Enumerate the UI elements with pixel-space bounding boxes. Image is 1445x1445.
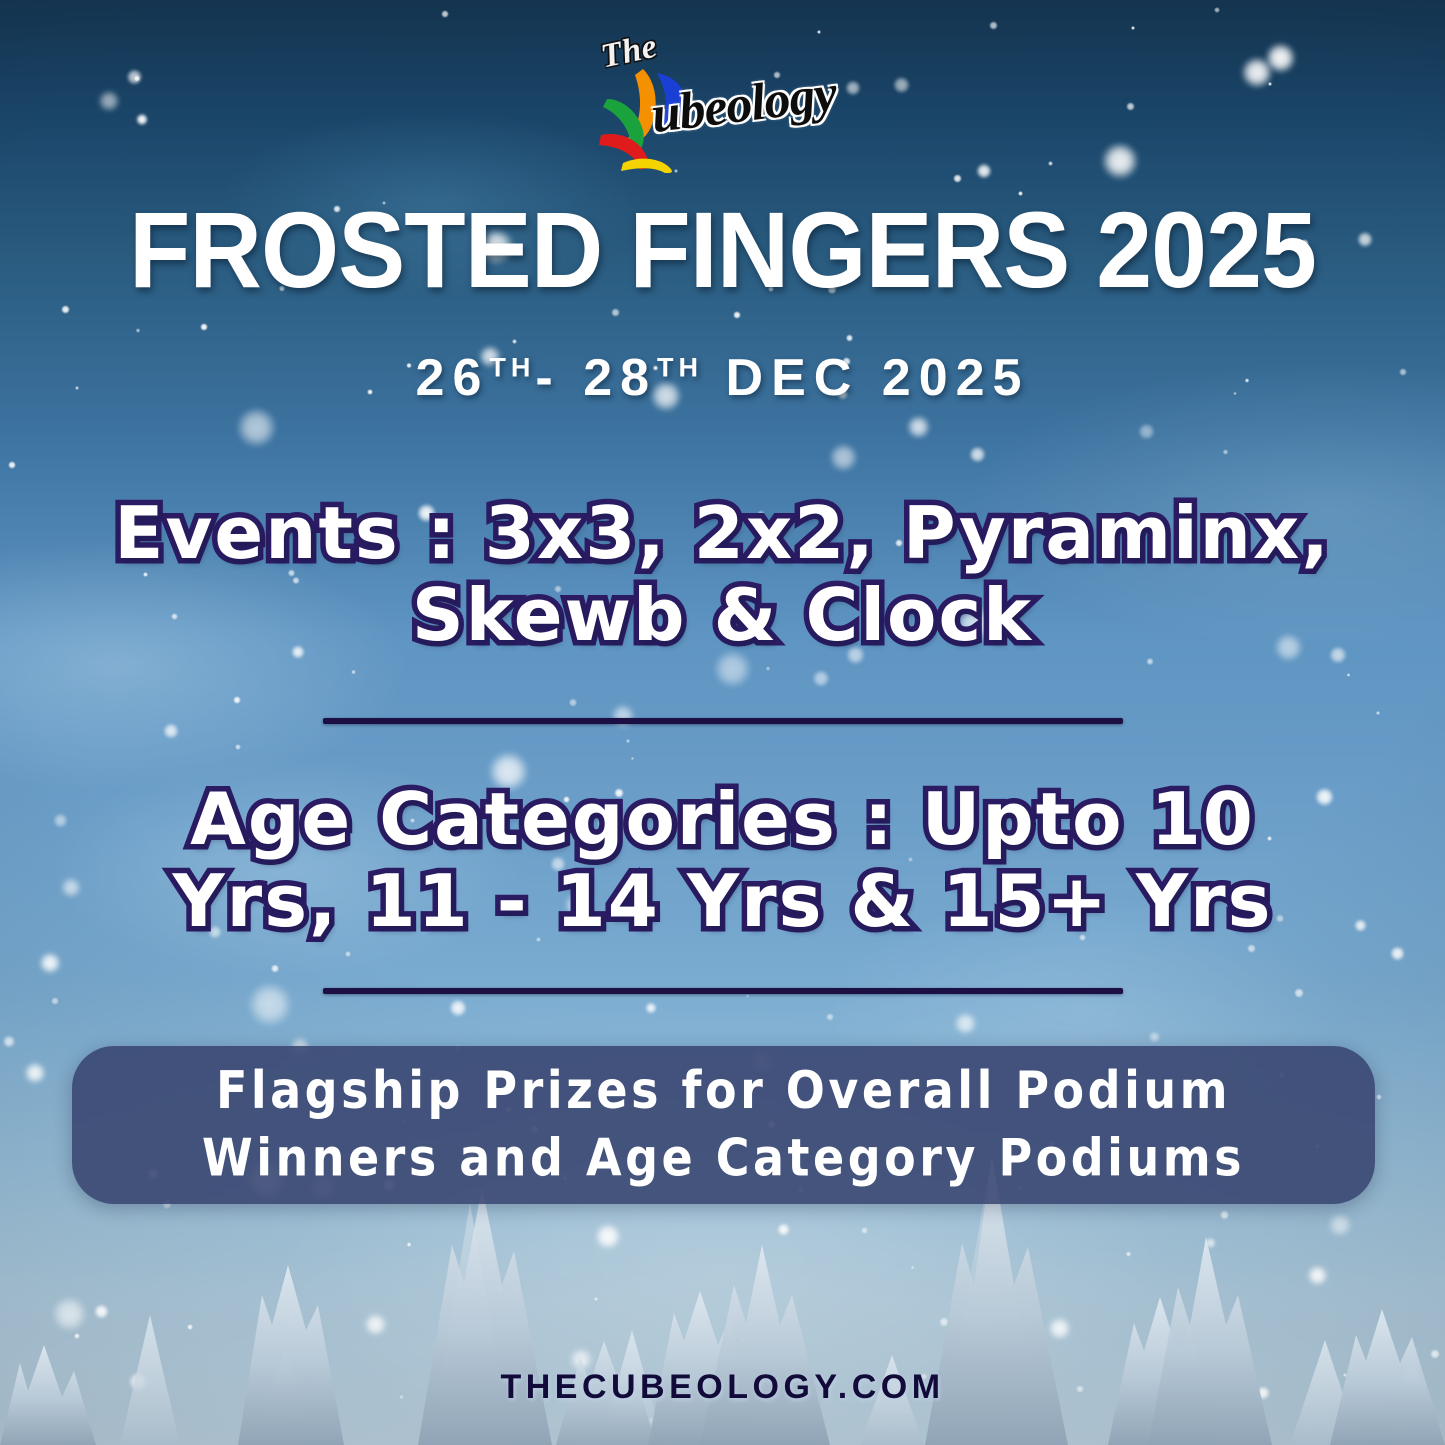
age-categories-block: Age Categories : Upto 10 Yrs, 11 - 14 Yr… bbox=[0, 778, 1445, 942]
prizes-line-1: Flagship Prizes for Overall Podium bbox=[202, 1058, 1245, 1125]
page-title: FROSTED FINGERS 2025 bbox=[51, 196, 1395, 304]
event-date: 26TH- 28TH DEC 2025 bbox=[0, 348, 1445, 408]
date-dash: - bbox=[535, 349, 560, 407]
date-day-end: 28 bbox=[583, 349, 657, 407]
prizes-text: Flagship Prizes for Overall Podium Winne… bbox=[202, 1058, 1245, 1192]
divider-bottom bbox=[323, 988, 1123, 994]
prizes-banner: Flagship Prizes for Overall Podium Winne… bbox=[72, 1046, 1375, 1204]
date-month-year: DEC 2025 bbox=[726, 349, 1030, 407]
divider-top bbox=[323, 718, 1123, 724]
event-poster: The ubeology FROSTED FINGERS 2025 26TH- … bbox=[0, 0, 1445, 1445]
events-line-1: Events : 3x3, 2x2, Pyraminx, bbox=[48, 492, 1397, 574]
age-categories-line-2: Yrs, 11 - 14 Yrs & 15+ Yrs bbox=[70, 860, 1375, 942]
website-url[interactable]: THECUBEOLOGY.COM bbox=[0, 1368, 1445, 1407]
brand-logo[interactable]: The ubeology bbox=[0, 28, 1445, 173]
events-block: Events : 3x3, 2x2, Pyraminx, Skewb & Clo… bbox=[0, 492, 1445, 656]
date-ordinal-end: TH bbox=[657, 353, 703, 383]
prizes-line-2: Winners and Age Category Podiums bbox=[202, 1125, 1245, 1192]
events-line-2: Skewb & Clock bbox=[48, 574, 1397, 656]
date-ordinal-start: TH bbox=[489, 353, 535, 383]
age-categories-line-1: Age Categories : Upto 10 bbox=[70, 778, 1375, 860]
date-day-start: 26 bbox=[416, 349, 490, 407]
